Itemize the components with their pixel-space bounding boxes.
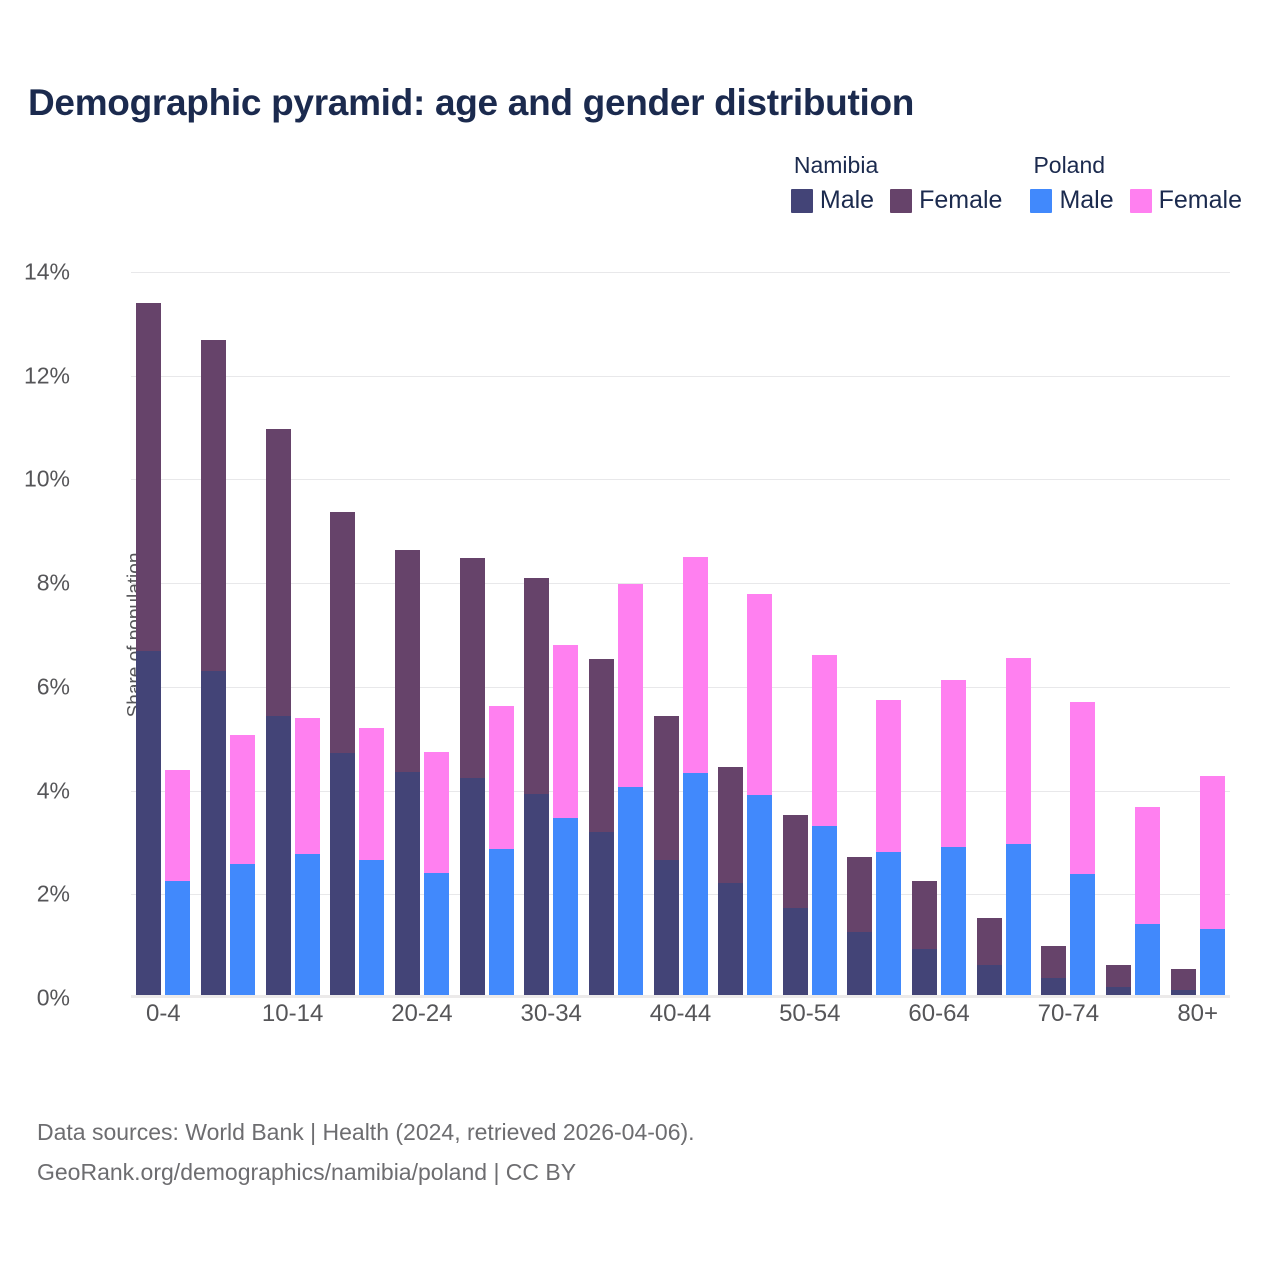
bar-namibia[interactable]: [1041, 946, 1066, 998]
bar-segment-poland-male[interactable]: [230, 864, 255, 998]
bar-group: [1041, 272, 1095, 998]
bar-namibia[interactable]: [847, 857, 872, 998]
bar-namibia[interactable]: [718, 767, 743, 998]
bar-poland[interactable]: [876, 700, 901, 998]
bar-segment-poland-male[interactable]: [941, 847, 966, 998]
legend-swatch-icon: [791, 189, 813, 213]
bar-group: [654, 272, 708, 998]
bar-poland[interactable]: [165, 770, 190, 998]
bar-segment-poland-female[interactable]: [876, 700, 901, 852]
bar-group: [589, 272, 643, 998]
bar-segment-poland-male[interactable]: [489, 849, 514, 998]
bar-segment-poland-male[interactable]: [683, 773, 708, 998]
legend-item-namibia-female[interactable]: Female: [890, 186, 1002, 215]
bar-poland[interactable]: [812, 655, 837, 998]
bar-poland[interactable]: [295, 718, 320, 998]
y-axis-tick-label: 6%: [0, 673, 70, 700]
bar-group: [912, 272, 966, 998]
bar-segment-poland-female[interactable]: [941, 680, 966, 847]
bar-segment-namibia-male[interactable]: [266, 716, 291, 998]
bar-poland[interactable]: [553, 645, 578, 998]
bar-poland[interactable]: [941, 680, 966, 998]
bar-segment-poland-female[interactable]: [359, 728, 384, 859]
bar-segment-poland-male[interactable]: [1070, 874, 1095, 998]
x-axis-tick-label: 30-34: [521, 1000, 582, 1028]
bar-namibia[interactable]: [524, 578, 549, 998]
bar-segment-namibia-male[interactable]: [977, 965, 1002, 998]
bar-segment-namibia-male[interactable]: [395, 772, 420, 998]
y-axis-tick-label: 10%: [0, 466, 70, 493]
bar-segment-namibia-female[interactable]: [136, 303, 161, 650]
bar-segment-namibia-female[interactable]: [1106, 965, 1131, 987]
bar-segment-namibia-male[interactable]: [136, 651, 161, 998]
bar-segment-namibia-male[interactable]: [589, 832, 614, 998]
bar-segment-poland-male[interactable]: [1006, 844, 1031, 998]
bar-namibia[interactable]: [266, 429, 291, 998]
bar-segment-poland-male[interactable]: [165, 881, 190, 998]
x-axis-tick-label: 70-74: [1038, 1000, 1099, 1028]
bar-segment-namibia-female[interactable]: [589, 659, 614, 832]
bar-group: [395, 272, 449, 998]
bar-segment-namibia-female[interactable]: [977, 918, 1002, 965]
legend-item-label: Male: [1059, 186, 1113, 215]
bar-segment-namibia-female[interactable]: [783, 815, 808, 908]
bar-segment-namibia-male[interactable]: [718, 883, 743, 998]
bar-segment-namibia-male[interactable]: [330, 753, 355, 998]
legend-item-namibia-male[interactable]: Male: [791, 186, 874, 215]
bar-poland[interactable]: [683, 557, 708, 998]
bar-namibia[interactable]: [1171, 969, 1196, 998]
bar-segment-namibia-male[interactable]: [201, 671, 226, 998]
legend-item-poland-male[interactable]: Male: [1030, 186, 1113, 215]
bar-group: [1171, 272, 1225, 998]
legend-swatch-icon: [1030, 189, 1052, 213]
bar-segment-poland-female[interactable]: [747, 594, 772, 795]
bar-segment-poland-male[interactable]: [812, 826, 837, 998]
legend-items: MaleFemale: [1030, 186, 1242, 215]
bar-segment-namibia-female[interactable]: [654, 716, 679, 860]
legend-group-title: Namibia: [791, 152, 878, 179]
y-axis-tick-label: 0%: [0, 985, 70, 1012]
bar-segment-namibia-male[interactable]: [460, 778, 485, 998]
bar-poland[interactable]: [489, 706, 514, 998]
bar-segment-poland-female[interactable]: [424, 752, 449, 873]
bar-segment-poland-female[interactable]: [295, 718, 320, 854]
bar-namibia[interactable]: [201, 340, 226, 998]
bar-segment-poland-female[interactable]: [230, 735, 255, 865]
legend-swatch-icon: [890, 189, 912, 213]
bar-segment-namibia-male[interactable]: [524, 794, 549, 998]
bar-poland[interactable]: [1070, 702, 1095, 998]
y-axis-tick-label: 8%: [0, 570, 70, 597]
legend-group-poland: PolandMaleFemale: [1030, 152, 1242, 215]
bar-namibia[interactable]: [912, 881, 937, 998]
bar-segment-namibia-female[interactable]: [201, 340, 226, 671]
bar-group: [847, 272, 901, 998]
bar-poland[interactable]: [359, 728, 384, 998]
bar-segment-poland-male[interactable]: [747, 795, 772, 998]
bar-segment-namibia-female[interactable]: [912, 881, 937, 948]
y-axis-tick-label: 2%: [0, 881, 70, 908]
bar-segment-namibia-female[interactable]: [460, 558, 485, 778]
bar-poland[interactable]: [1006, 658, 1031, 998]
bar-segment-poland-male[interactable]: [359, 860, 384, 998]
bar-group: [718, 272, 772, 998]
bar-segment-poland-male[interactable]: [295, 854, 320, 998]
bar-group: [266, 272, 320, 998]
chart-legend: NamibiaMaleFemalePolandMaleFemale: [791, 152, 1242, 215]
bar-group: [977, 272, 1031, 998]
bar-namibia[interactable]: [589, 659, 614, 998]
bar-poland[interactable]: [424, 752, 449, 998]
legend-group-namibia: NamibiaMaleFemale: [791, 152, 1003, 215]
bar-segment-namibia-female[interactable]: [266, 429, 291, 716]
bar-segment-poland-male[interactable]: [1200, 929, 1225, 998]
bar-namibia[interactable]: [1106, 965, 1131, 998]
x-axis-tick-label: 20-24: [391, 1000, 452, 1028]
bar-group: [783, 272, 837, 998]
bar-segment-namibia-female[interactable]: [524, 578, 549, 793]
legend-item-label: Female: [1159, 186, 1242, 215]
legend-item-label: Female: [919, 186, 1002, 215]
bar-group: [460, 272, 514, 998]
legend-group-title: Poland: [1030, 152, 1105, 179]
bar-namibia[interactable]: [977, 918, 1002, 998]
bar-segment-poland-female[interactable]: [1070, 702, 1095, 873]
bar-segment-namibia-male[interactable]: [783, 908, 808, 998]
bar-segment-poland-female[interactable]: [1200, 776, 1225, 929]
bar-group: [201, 272, 255, 998]
bar-namibia[interactable]: [330, 512, 355, 998]
bar-segment-poland-female[interactable]: [489, 706, 514, 849]
x-axis-tick-label: 50-54: [779, 1000, 840, 1028]
chart-page: Demographic pyramid: age and gender dist…: [0, 0, 1280, 1280]
bar-segment-poland-female[interactable]: [1135, 807, 1160, 924]
bar-segment-poland-male[interactable]: [424, 873, 449, 998]
bar-segment-poland-female[interactable]: [165, 770, 190, 880]
bar-poland[interactable]: [747, 594, 772, 998]
bar-namibia[interactable]: [136, 303, 161, 998]
legend-item-poland-female[interactable]: Female: [1130, 186, 1242, 215]
bar-group: [1106, 272, 1160, 998]
bar-segment-namibia-male[interactable]: [912, 949, 937, 998]
bar-namibia[interactable]: [395, 550, 420, 998]
bars-layer: [131, 272, 1230, 998]
bar-poland[interactable]: [1135, 807, 1160, 998]
bar-poland[interactable]: [618, 584, 643, 998]
y-axis-tick-label: 4%: [0, 777, 70, 804]
bar-segment-poland-male[interactable]: [876, 852, 901, 998]
bar-segment-namibia-female[interactable]: [1171, 969, 1196, 990]
bar-group: [524, 272, 578, 998]
bar-poland[interactable]: [1200, 776, 1225, 998]
bar-group: [330, 272, 384, 998]
x-axis-baseline: [131, 995, 1230, 998]
bar-segment-namibia-female[interactable]: [330, 512, 355, 754]
x-axis-tick-label: 40-44: [650, 1000, 711, 1028]
bar-segment-poland-male[interactable]: [553, 818, 578, 998]
x-axis-tick-label: 0-4: [146, 1000, 181, 1028]
bar-segment-poland-female[interactable]: [553, 645, 578, 818]
bar-segment-namibia-male[interactable]: [654, 860, 679, 998]
footer-attribution: Data sources: World Bank | Health (2024,…: [37, 1113, 695, 1192]
x-axis-tick-label: 80+: [1177, 1000, 1218, 1028]
y-axis-tick-label: 14%: [0, 259, 70, 286]
bar-segment-poland-male[interactable]: [618, 787, 643, 998]
bar-segment-poland-female[interactable]: [1006, 658, 1031, 844]
bar-segment-poland-male[interactable]: [1135, 924, 1160, 998]
legend-item-label: Male: [820, 186, 874, 215]
bar-group: [136, 272, 190, 998]
bar-segment-namibia-female[interactable]: [1041, 946, 1066, 979]
x-axis-tick-label: 10-14: [262, 1000, 323, 1028]
plot-area: Share of population 0%2%4%6%8%10%12%14% …: [131, 272, 1230, 998]
page-title: Demographic pyramid: age and gender dist…: [28, 82, 914, 124]
footer-line-sources: Data sources: World Bank | Health (2024,…: [37, 1113, 695, 1153]
bar-namibia[interactable]: [460, 558, 485, 998]
bar-segment-namibia-female[interactable]: [718, 767, 743, 883]
bar-segment-namibia-male[interactable]: [847, 932, 872, 998]
bar-segment-poland-female[interactable]: [683, 557, 708, 774]
bar-segment-poland-female[interactable]: [812, 655, 837, 827]
legend-swatch-icon: [1130, 189, 1152, 213]
legend-items: MaleFemale: [791, 186, 1003, 215]
bar-poland[interactable]: [230, 735, 255, 998]
bar-namibia[interactable]: [783, 815, 808, 998]
footer-line-url: GeoRank.org/demographics/namibia/poland …: [37, 1153, 695, 1193]
bar-segment-namibia-female[interactable]: [395, 550, 420, 772]
bar-segment-namibia-female[interactable]: [847, 857, 872, 931]
bar-segment-poland-female[interactable]: [618, 584, 643, 787]
bar-namibia[interactable]: [654, 716, 679, 998]
y-axis-tick-label: 12%: [0, 362, 70, 389]
x-axis-tick-label: 60-64: [908, 1000, 969, 1028]
